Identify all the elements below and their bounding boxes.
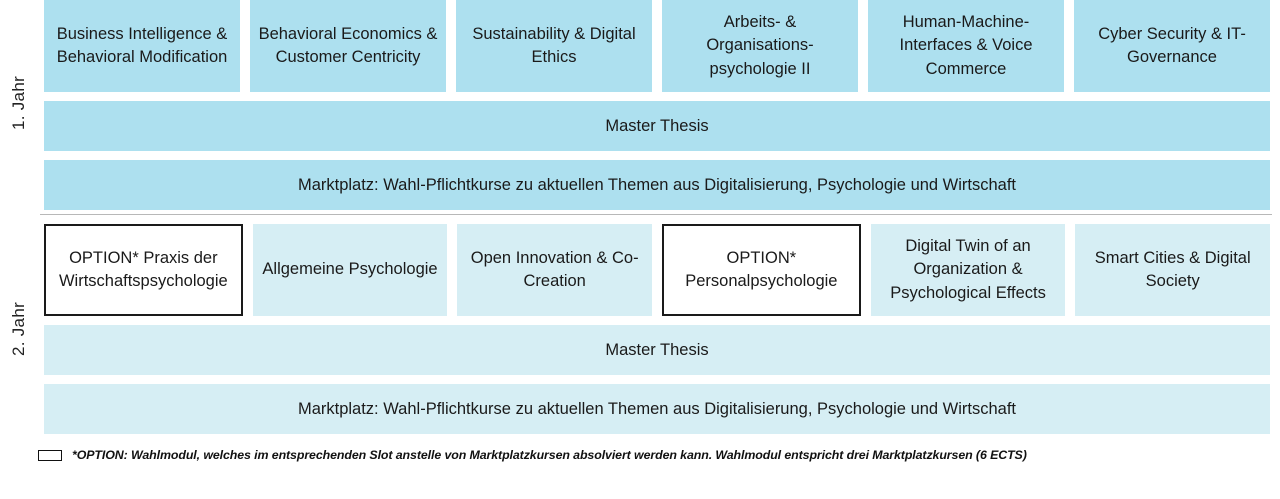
module-card[interactable]: Allgemeine Psychologie xyxy=(253,224,448,316)
module-label: OPTION* Praxis der Wirtschaftspsychologi… xyxy=(52,247,235,294)
marktplatz-label: Marktplatz: Wahl-Pflichtkurse zu aktuell… xyxy=(298,400,1016,419)
module-card[interactable]: Behavioral Economics & Customer Centrici… xyxy=(250,0,446,92)
module-label: Digital Twin of an Organization & Psycho… xyxy=(877,235,1060,305)
marktplatz-bar[interactable]: Marktplatz: Wahl-Pflichtkurse zu aktuell… xyxy=(44,384,1270,434)
module-label: OPTION* Personalpsychologie xyxy=(670,247,853,294)
year-section-1: 1. Jahr Business Intelligence & Behavior… xyxy=(0,0,1280,206)
year-label-1-text: 1. Jahr xyxy=(9,76,29,130)
footnote: *OPTION: Wahlmodul, welches im entsprech… xyxy=(38,448,1027,462)
year-section-2: 2. Jahr OPTION* Praxis der Wirtschaftsps… xyxy=(0,224,1280,434)
module-label: Arbeits- & Organisations- psychologie II xyxy=(668,11,852,81)
year-section-divider xyxy=(40,214,1272,215)
module-label: Human-Machine- Interfaces & Voice Commer… xyxy=(874,11,1058,81)
master-thesis-label: Master Thesis xyxy=(605,341,708,360)
module-card-option[interactable]: OPTION* Personalpsychologie xyxy=(662,224,861,316)
year-1-body: Business Intelligence & Behavioral Modif… xyxy=(44,0,1270,206)
year-label-2: 2. Jahr xyxy=(0,224,38,434)
master-thesis-bar[interactable]: Master Thesis xyxy=(44,325,1270,375)
module-label: Sustainability & Digital Ethics xyxy=(462,23,646,70)
master-thesis-label: Master Thesis xyxy=(605,117,708,136)
module-card[interactable]: Arbeits- & Organisations- psychologie II xyxy=(662,0,858,92)
year-1-module-row: Business Intelligence & Behavioral Modif… xyxy=(44,0,1270,92)
master-thesis-bar[interactable]: Master Thesis xyxy=(44,101,1270,151)
marktplatz-bar[interactable]: Marktplatz: Wahl-Pflichtkurse zu aktuell… xyxy=(44,160,1270,210)
marktplatz-label: Marktplatz: Wahl-Pflichtkurse zu aktuell… xyxy=(298,176,1016,195)
year-2-body: OPTION* Praxis der Wirtschaftspsychologi… xyxy=(44,224,1270,434)
year-label-2-text: 2. Jahr xyxy=(9,302,29,356)
module-label: Business Intelligence & Behavioral Modif… xyxy=(50,23,234,70)
module-label: Open Innovation & Co-Creation xyxy=(463,247,646,294)
module-card[interactable]: Business Intelligence & Behavioral Modif… xyxy=(44,0,240,92)
module-card[interactable]: Sustainability & Digital Ethics xyxy=(456,0,652,92)
module-label: Cyber Security & IT-Governance xyxy=(1080,23,1264,70)
module-card-option[interactable]: OPTION* Praxis der Wirtschaftspsychologi… xyxy=(44,224,243,316)
rectangle-outline-icon xyxy=(38,450,62,461)
module-card[interactable]: Open Innovation & Co-Creation xyxy=(457,224,652,316)
year-2-module-row: OPTION* Praxis der Wirtschaftspsychologi… xyxy=(44,224,1270,316)
curriculum-diagram: 1. Jahr Business Intelligence & Behavior… xyxy=(0,0,1280,499)
module-card[interactable]: Cyber Security & IT-Governance xyxy=(1074,0,1270,92)
module-label: Behavioral Economics & Customer Centrici… xyxy=(256,23,440,70)
module-card[interactable]: Human-Machine- Interfaces & Voice Commer… xyxy=(868,0,1064,92)
module-label: Smart Cities & Digital Society xyxy=(1081,247,1264,294)
module-card[interactable]: Digital Twin of an Organization & Psycho… xyxy=(871,224,1066,316)
module-label: Allgemeine Psychologie xyxy=(262,258,437,281)
footnote-text: *OPTION: Wahlmodul, welches im entsprech… xyxy=(72,448,1027,462)
module-card[interactable]: Smart Cities & Digital Society xyxy=(1075,224,1270,316)
year-label-1: 1. Jahr xyxy=(0,0,38,206)
